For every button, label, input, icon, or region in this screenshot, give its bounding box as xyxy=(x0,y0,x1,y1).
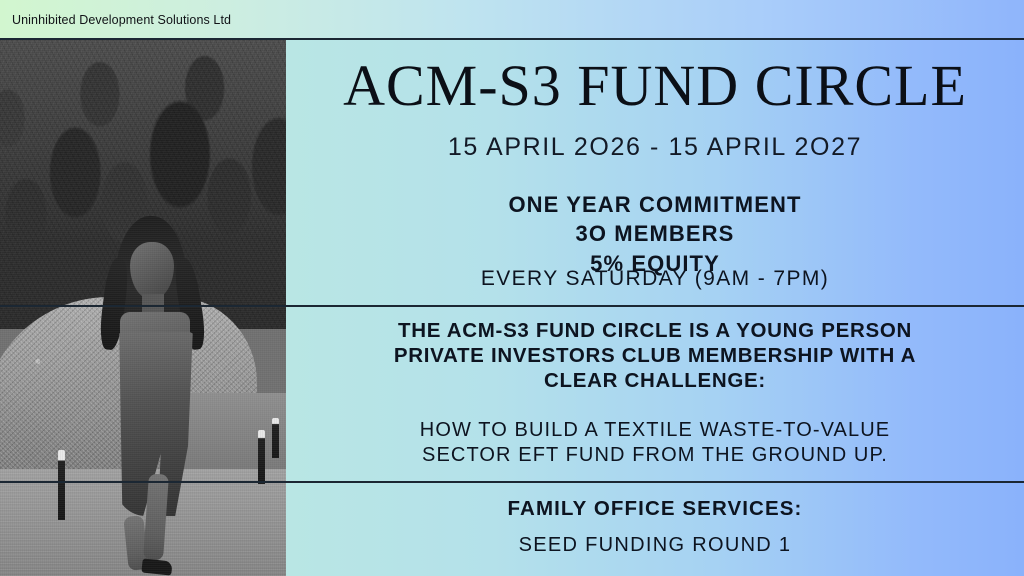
schedule-text: EVERY SATURDAY (9AM - 7PM) xyxy=(286,267,1024,291)
description-bold-line: THE ACM-S3 FUND CIRCLE IS A YOUNG PERSON xyxy=(308,318,1002,343)
poster-canvas: Uninhibited Development Solutions Ltd AC… xyxy=(0,0,1024,576)
hero-photo xyxy=(0,39,286,576)
figure-shoe xyxy=(141,558,172,575)
commitment-terms: ONE YEAR COMMITMENT 3O MEMBERS 5% EQUITY xyxy=(286,190,1024,278)
page-title: ACM-S3 FUND CIRCLE xyxy=(286,56,1024,115)
divider-top xyxy=(0,38,1024,40)
photo-bollard xyxy=(258,430,265,484)
commitment-line: ONE YEAR COMMITMENT xyxy=(286,190,1024,219)
photo-bollard xyxy=(58,450,65,520)
services-heading: FAMILY OFFICE SERVICES: xyxy=(286,497,1024,521)
content-panel xyxy=(286,39,1024,576)
description-bold-line: PRIVATE INVESTORS CLUB MEMBERSHIP WITH A xyxy=(308,343,1002,368)
services-item: SEED FUNDING ROUND 1 xyxy=(286,534,1024,557)
description-light-line: SECTOR EFT FUND FROM THE GROUND UP. xyxy=(286,443,1024,468)
date-range: 15 APRIL 2O26 - 15 APRIL 2O27 xyxy=(286,133,1024,162)
description-light: HOW TO BUILD A TEXTILE WASTE-TO-VALUE SE… xyxy=(286,418,1024,468)
photo-figure xyxy=(86,216,218,576)
description-light-line: HOW TO BUILD A TEXTILE WASTE-TO-VALUE xyxy=(286,418,1024,443)
divider-middle-2 xyxy=(0,481,1024,483)
description-bold: THE ACM-S3 FUND CIRCLE IS A YOUNG PERSON… xyxy=(286,318,1024,393)
company-name: Uninhibited Development Solutions Ltd xyxy=(12,13,231,27)
photo-bollard xyxy=(272,418,279,458)
header-bar: Uninhibited Development Solutions Ltd xyxy=(0,0,1024,39)
commitment-line: 3O MEMBERS xyxy=(286,219,1024,248)
description-bold-line: CLEAR CHALLENGE: xyxy=(308,368,1002,393)
divider-middle-1 xyxy=(0,305,1024,307)
